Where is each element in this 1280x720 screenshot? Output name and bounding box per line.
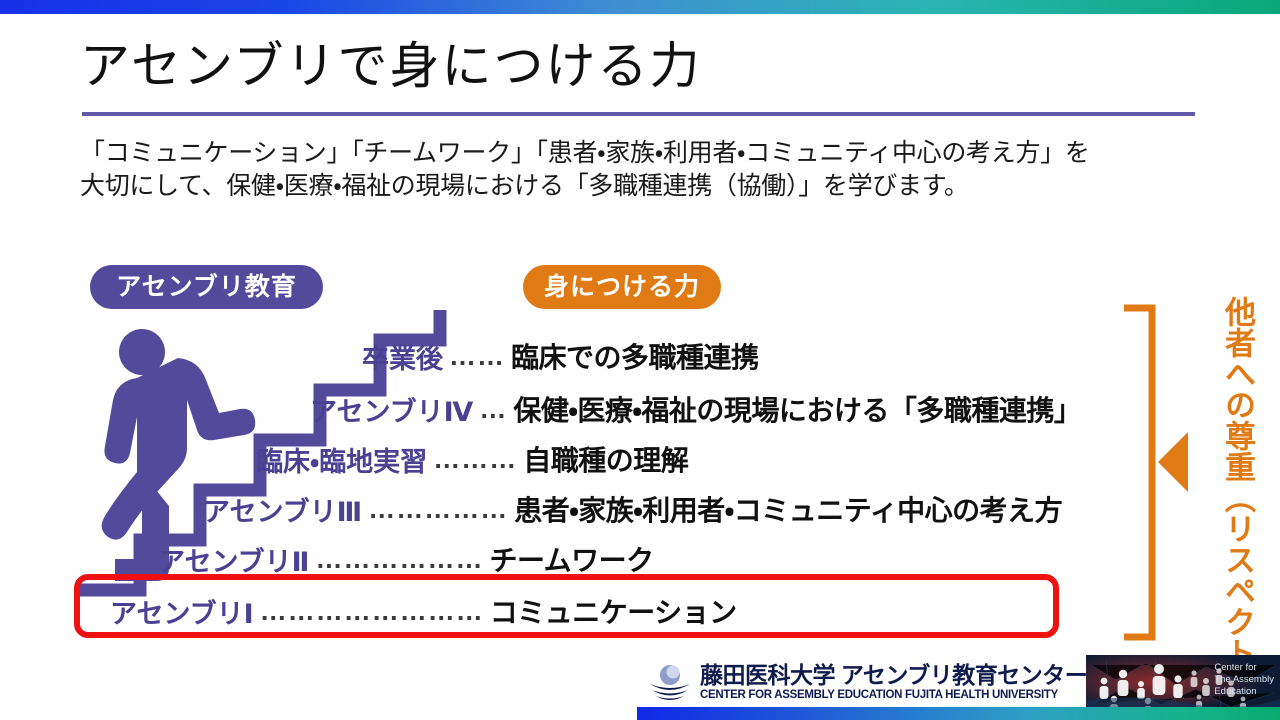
ladder-row-skill: チームワーク [489,539,653,579]
bottom-gradient-bar [637,707,1280,720]
assembly-center-corner-image: Center for The Assembly Education [1086,655,1280,713]
subtitle-line-1: 「コミュニケーション」「チームワーク」「患者・家族・利用者・コミュニティ中心の考… [80,137,1210,170]
ladder-row-stage: 臨床・臨地実習 [256,440,427,479]
ladder-row: アセンブリⅣ … 保健・医療・福祉の現場における「多職種連携」 [310,387,1081,431]
title-underline-rule [82,112,1195,116]
logo-text-japanese: 藤田医科大学 アセンブリ教育センター [700,662,1087,688]
slide-root: アセンブリで身につける力 「コミュニケーション」「チームワーク」「患者・家族・利… [0,0,1280,720]
corner-image-caption: Center for The Assembly Education [1214,662,1274,698]
ladder-row-leader: ……………… [315,544,483,575]
university-logo: 藤田医科大学 アセンブリ教育センター CENTER FOR ASSEMBLY E… [648,662,1087,702]
left-arrow-icon [1158,432,1188,492]
page-title: アセンブリで身につける力 [80,36,702,96]
slide-subtitle: 「コミュニケーション」「チームワーク」「患者・家族・利用者・コミュニティ中心の考… [80,137,1210,203]
ladder-row-leader: …… [449,341,505,372]
ladder-row-skill: 保健・医療・福祉の現場における「多職種連携」 [513,389,1081,429]
subtitle-line-2: 大切にして、保健・医療・福祉の現場における「多職種連携（協働）」を学びます。 [80,170,1210,203]
ladder-row: アセンブリⅢ …………… 患者・家族・利用者・コミュニティ中心の考え方 [203,487,1062,531]
fujita-logo-mark-icon [648,662,692,702]
ladder-row-leader: …………… [368,494,508,525]
bracket-shape [1124,308,1152,637]
red-highlight-box [74,574,1059,638]
ladder-row: 臨床・臨地実習 ……… 自職種の理解 [256,437,688,481]
badge-skills-acquired: 身につける力 [523,265,721,309]
top-gradient-bar [0,0,1280,14]
ladder-row-skill: 臨床での多職種連携 [511,336,759,376]
ladder-row-leader: ……… [433,444,517,475]
orange-bracket-with-arrow-icon [1122,300,1202,645]
ladder-row-stage: 卒業後 [362,337,443,376]
ladder-row-stage: アセンブリⅡ [158,540,309,579]
ladder-row-leader: … [479,394,507,425]
ladder-row: 卒業後 …… 臨床での多職種連携 [362,334,759,378]
logo-text-english: CENTER FOR ASSEMBLY EDUCATION FUJITA HEA… [700,688,1087,702]
ladder-row-stage: アセンブリⅢ [203,490,362,529]
ladder-row-skill: 患者・家族・利用者・コミュニティ中心の考え方 [514,489,1062,529]
ladder-row-skill: 自職種の理解 [523,439,688,479]
ladder-row-stage: アセンブリⅣ [310,390,473,429]
respect-vertical-label: 他者への尊重（リスペクト） [1208,296,1254,646]
